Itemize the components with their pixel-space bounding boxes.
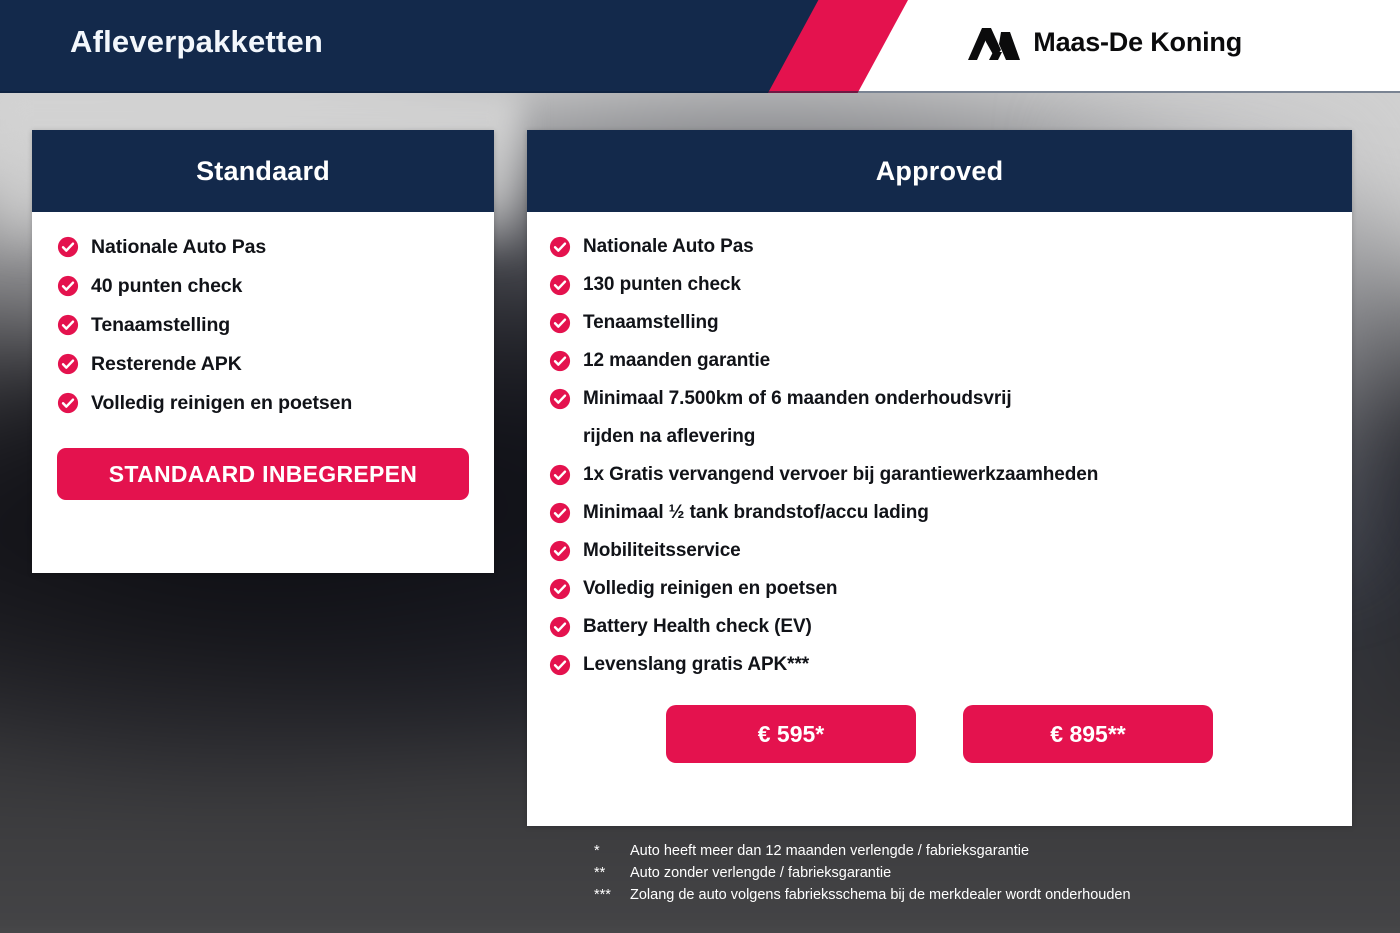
feature-label: Volledig reinigen en poetsen — [583, 574, 837, 604]
feature-label: 1x Gratis vervangend vervoer bij garanti… — [583, 460, 1098, 490]
package-card-approved: Approved Nationale Auto Pas 130 punten c — [527, 130, 1352, 826]
footnote-text: Auto heeft meer dan 12 maanden verlengde… — [630, 840, 1029, 862]
list-item: 1x Gratis vervangend vervoer bij garanti… — [527, 460, 1352, 490]
card-title: Standaard — [196, 156, 330, 187]
list-item: Tenaamstelling — [527, 308, 1352, 338]
feature-label: Resterende APK — [91, 349, 242, 379]
check-circle-icon — [549, 578, 571, 600]
brand-name: Maas-De Koning — [1033, 27, 1242, 58]
card-body-approved: Nationale Auto Pas 130 punten check Tena… — [527, 212, 1352, 763]
price-button-895[interactable]: € 895** — [963, 705, 1213, 763]
check-circle-icon — [57, 275, 79, 297]
footnote-text: Zolang de auto volgens fabrieksschema bi… — [630, 884, 1131, 906]
feature-label: Tenaamstelling — [91, 310, 230, 340]
check-circle-icon — [549, 464, 571, 486]
footnote-double-asterisk: ** Auto zonder verlengde / fabrieksgaran… — [594, 862, 1131, 884]
list-item: 130 punten check — [527, 270, 1352, 300]
check-circle-icon — [549, 502, 571, 524]
feature-label: Volledig reinigen en poetsen — [91, 388, 352, 418]
check-circle-icon — [549, 350, 571, 372]
card-body-standaard: Nationale Auto Pas 40 punten check Tenaa… — [32, 212, 494, 500]
list-item-continuation: rijden na aflevering — [527, 422, 1352, 452]
check-circle-icon — [549, 236, 571, 258]
footnote-single-asterisk: * Auto heeft meer dan 12 maanden verleng… — [594, 840, 1131, 862]
check-circle-icon — [57, 314, 79, 336]
standaard-included-button[interactable]: STANDAARD INBEGREPEN — [57, 448, 469, 500]
package-card-standaard: Standaard Nationale Auto Pas 40 punten c — [32, 130, 494, 573]
check-circle-icon — [57, 236, 79, 258]
feature-label: Battery Health check (EV) — [583, 612, 812, 642]
list-item: Nationale Auto Pas — [32, 232, 494, 262]
list-item: Minimaal ½ tank brandstof/accu lading — [527, 498, 1352, 528]
brand-logo: Maas-De Koning — [968, 22, 1242, 62]
footnote-triple-asterisk: *** Zolang de auto volgens fabrieksschem… — [594, 884, 1131, 906]
check-circle-icon — [57, 392, 79, 414]
list-item: Resterende APK — [32, 349, 494, 379]
card-header-standaard: Standaard — [32, 130, 494, 212]
card-title: Approved — [876, 156, 1004, 187]
feature-label: 40 punten check — [91, 271, 242, 301]
footnote-text: Auto zonder verlengde / fabrieksgarantie — [630, 862, 891, 884]
page-header: Afleverpakketten Maas-De Koning — [0, 0, 1400, 93]
check-circle-icon — [549, 654, 571, 676]
price-button-595[interactable]: € 595* — [666, 705, 916, 763]
price-button-row: € 595* € 895** — [527, 705, 1352, 763]
check-circle-icon — [549, 540, 571, 562]
list-item: Mobiliteitsservice — [527, 536, 1352, 566]
list-item: Battery Health check (EV) — [527, 612, 1352, 642]
feature-list-approved: Nationale Auto Pas 130 punten check Tena… — [527, 232, 1352, 680]
page-title: Afleverpakketten — [70, 24, 323, 60]
list-item: Volledig reinigen en poetsen — [527, 574, 1352, 604]
footnotes-block: * Auto heeft meer dan 12 maanden verleng… — [594, 840, 1131, 906]
check-circle-icon — [549, 274, 571, 296]
list-item: Volledig reinigen en poetsen — [32, 388, 494, 418]
afleverpakketten-page: Afleverpakketten Maas-De Koning Standaar… — [0, 0, 1400, 933]
feature-label: rijden na aflevering — [583, 422, 755, 452]
check-circle-icon — [57, 353, 79, 375]
header-bottom-rule — [0, 91, 1400, 93]
feature-label: Levenslang gratis APK*** — [583, 650, 809, 680]
feature-label: Tenaamstelling — [583, 308, 719, 338]
feature-label: Mobiliteitsservice — [583, 536, 741, 566]
list-item: 40 punten check — [32, 271, 494, 301]
feature-label: Nationale Auto Pas — [583, 232, 754, 262]
feature-label: 130 punten check — [583, 270, 741, 300]
check-circle-icon — [549, 616, 571, 638]
list-item: Minimaal 7.500km of 6 maanden onderhouds… — [527, 384, 1352, 414]
list-item: 12 maanden garantie — [527, 346, 1352, 376]
footnote-marker: *** — [594, 884, 630, 906]
check-circle-icon — [549, 388, 571, 410]
feature-list-standaard: Nationale Auto Pas 40 punten check Tenaa… — [32, 232, 494, 418]
feature-label: Nationale Auto Pas — [91, 232, 266, 262]
feature-label: Minimaal ½ tank brandstof/accu lading — [583, 498, 929, 528]
footnote-marker: * — [594, 840, 630, 862]
check-circle-icon — [549, 312, 571, 334]
feature-label: Minimaal 7.500km of 6 maanden onderhouds… — [583, 384, 1012, 414]
card-header-approved: Approved — [527, 130, 1352, 212]
feature-label: 12 maanden garantie — [583, 346, 770, 376]
list-item: Levenslang gratis APK*** — [527, 650, 1352, 680]
footnote-marker: ** — [594, 862, 630, 884]
list-item: Nationale Auto Pas — [527, 232, 1352, 262]
maas-de-koning-m-logo-icon — [968, 22, 1020, 62]
list-item: Tenaamstelling — [32, 310, 494, 340]
